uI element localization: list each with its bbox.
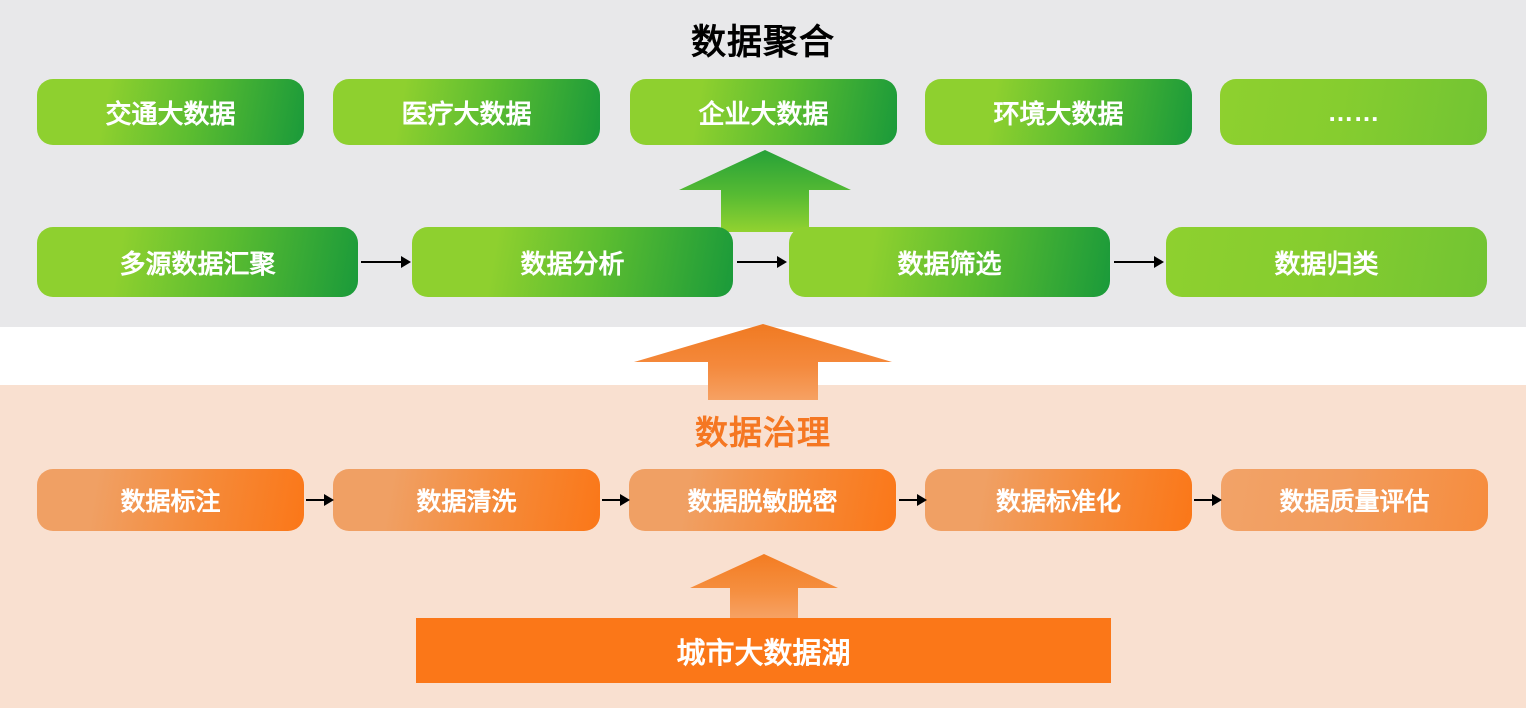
governance-box-label: 数据脱敏脱密	[687, 482, 837, 518]
connector-arrow-orange-4	[1194, 493, 1222, 507]
governance-box-data-quality-assessment[interactable]: 数据质量评估	[1221, 469, 1488, 531]
source-box-enterprise[interactable]: 企业大数据	[630, 79, 897, 145]
governance-box-data-desensitization[interactable]: 数据脱敏脱密	[629, 469, 896, 531]
governance-section-title: 数据治理	[0, 406, 1526, 454]
pipeline-box-label: 数据筛选	[897, 244, 1001, 281]
connector-arrowhead-icon	[1212, 494, 1222, 506]
source-box-label: 环境大数据	[993, 94, 1123, 131]
pipeline-box-data-classification[interactable]: 数据归类	[1166, 227, 1487, 297]
source-box-label: 医疗大数据	[401, 94, 531, 131]
pipeline-box-multisource-convergence[interactable]: 多源数据汇聚	[37, 227, 358, 297]
source-box-more[interactable]: ……	[1220, 79, 1487, 145]
connector-arrowhead-icon	[401, 256, 411, 268]
governance-box-data-cleaning[interactable]: 数据清洗	[333, 469, 600, 531]
arrow-up-orange-icon	[632, 322, 894, 400]
pipeline-box-label: 数据归类	[1274, 244, 1378, 281]
pipeline-box-label: 多源数据汇聚	[119, 244, 275, 281]
connector-shaft	[899, 499, 917, 501]
source-box-environment[interactable]: 环境大数据	[925, 79, 1192, 145]
connector-arrow-orange-1	[306, 493, 334, 507]
arrow-up-green-icon	[677, 148, 853, 232]
connector-arrowhead-icon	[777, 256, 787, 268]
source-box-medical[interactable]: 医疗大数据	[333, 79, 600, 145]
connector-shaft	[361, 261, 401, 263]
governance-box-label: 数据质量评估	[1279, 482, 1429, 518]
connector-shaft	[737, 261, 777, 263]
aggregation-section-title: 数据聚合	[0, 14, 1526, 65]
connector-arrowhead-icon	[324, 494, 334, 506]
pipeline-box-data-analysis[interactable]: 数据分析	[412, 227, 733, 297]
connector-arrow-orange-3	[899, 493, 927, 507]
connector-shaft	[306, 499, 324, 501]
source-box-traffic[interactable]: 交通大数据	[37, 79, 304, 145]
pipeline-box-data-filtering[interactable]: 数据筛选	[789, 227, 1110, 297]
source-box-label: ……	[1328, 97, 1380, 128]
pipeline-box-label: 数据分析	[520, 244, 624, 281]
connector-arrow-green-3	[1114, 255, 1164, 269]
connector-arrow-green-2	[737, 255, 787, 269]
governance-box-label: 数据清洗	[416, 482, 516, 518]
foundation-box-label: 城市大数据湖	[676, 630, 850, 672]
foundation-box-city-data-lake[interactable]: 城市大数据湖	[416, 618, 1111, 683]
source-box-label: 企业大数据	[698, 94, 828, 131]
connector-arrowhead-icon	[620, 494, 630, 506]
connector-shaft	[602, 499, 620, 501]
arrow-up-orange-small-icon	[688, 552, 840, 622]
governance-box-data-annotation[interactable]: 数据标注	[37, 469, 304, 531]
connector-arrowhead-icon	[1154, 256, 1164, 268]
diagram-canvas: 数据聚合 交通大数据 医疗大数据 企业大数据 环境大数据 …… 多源数据汇聚	[0, 0, 1526, 708]
source-box-label: 交通大数据	[105, 94, 235, 131]
connector-shaft	[1194, 499, 1212, 501]
governance-box-label: 数据标注	[120, 482, 220, 518]
governance-box-data-standardization[interactable]: 数据标准化	[925, 469, 1192, 531]
connector-arrow-green-1	[361, 255, 411, 269]
connector-arrowhead-icon	[917, 494, 927, 506]
governance-box-label: 数据标准化	[996, 482, 1121, 518]
connector-shaft	[1114, 261, 1154, 263]
connector-arrow-orange-2	[602, 493, 630, 507]
